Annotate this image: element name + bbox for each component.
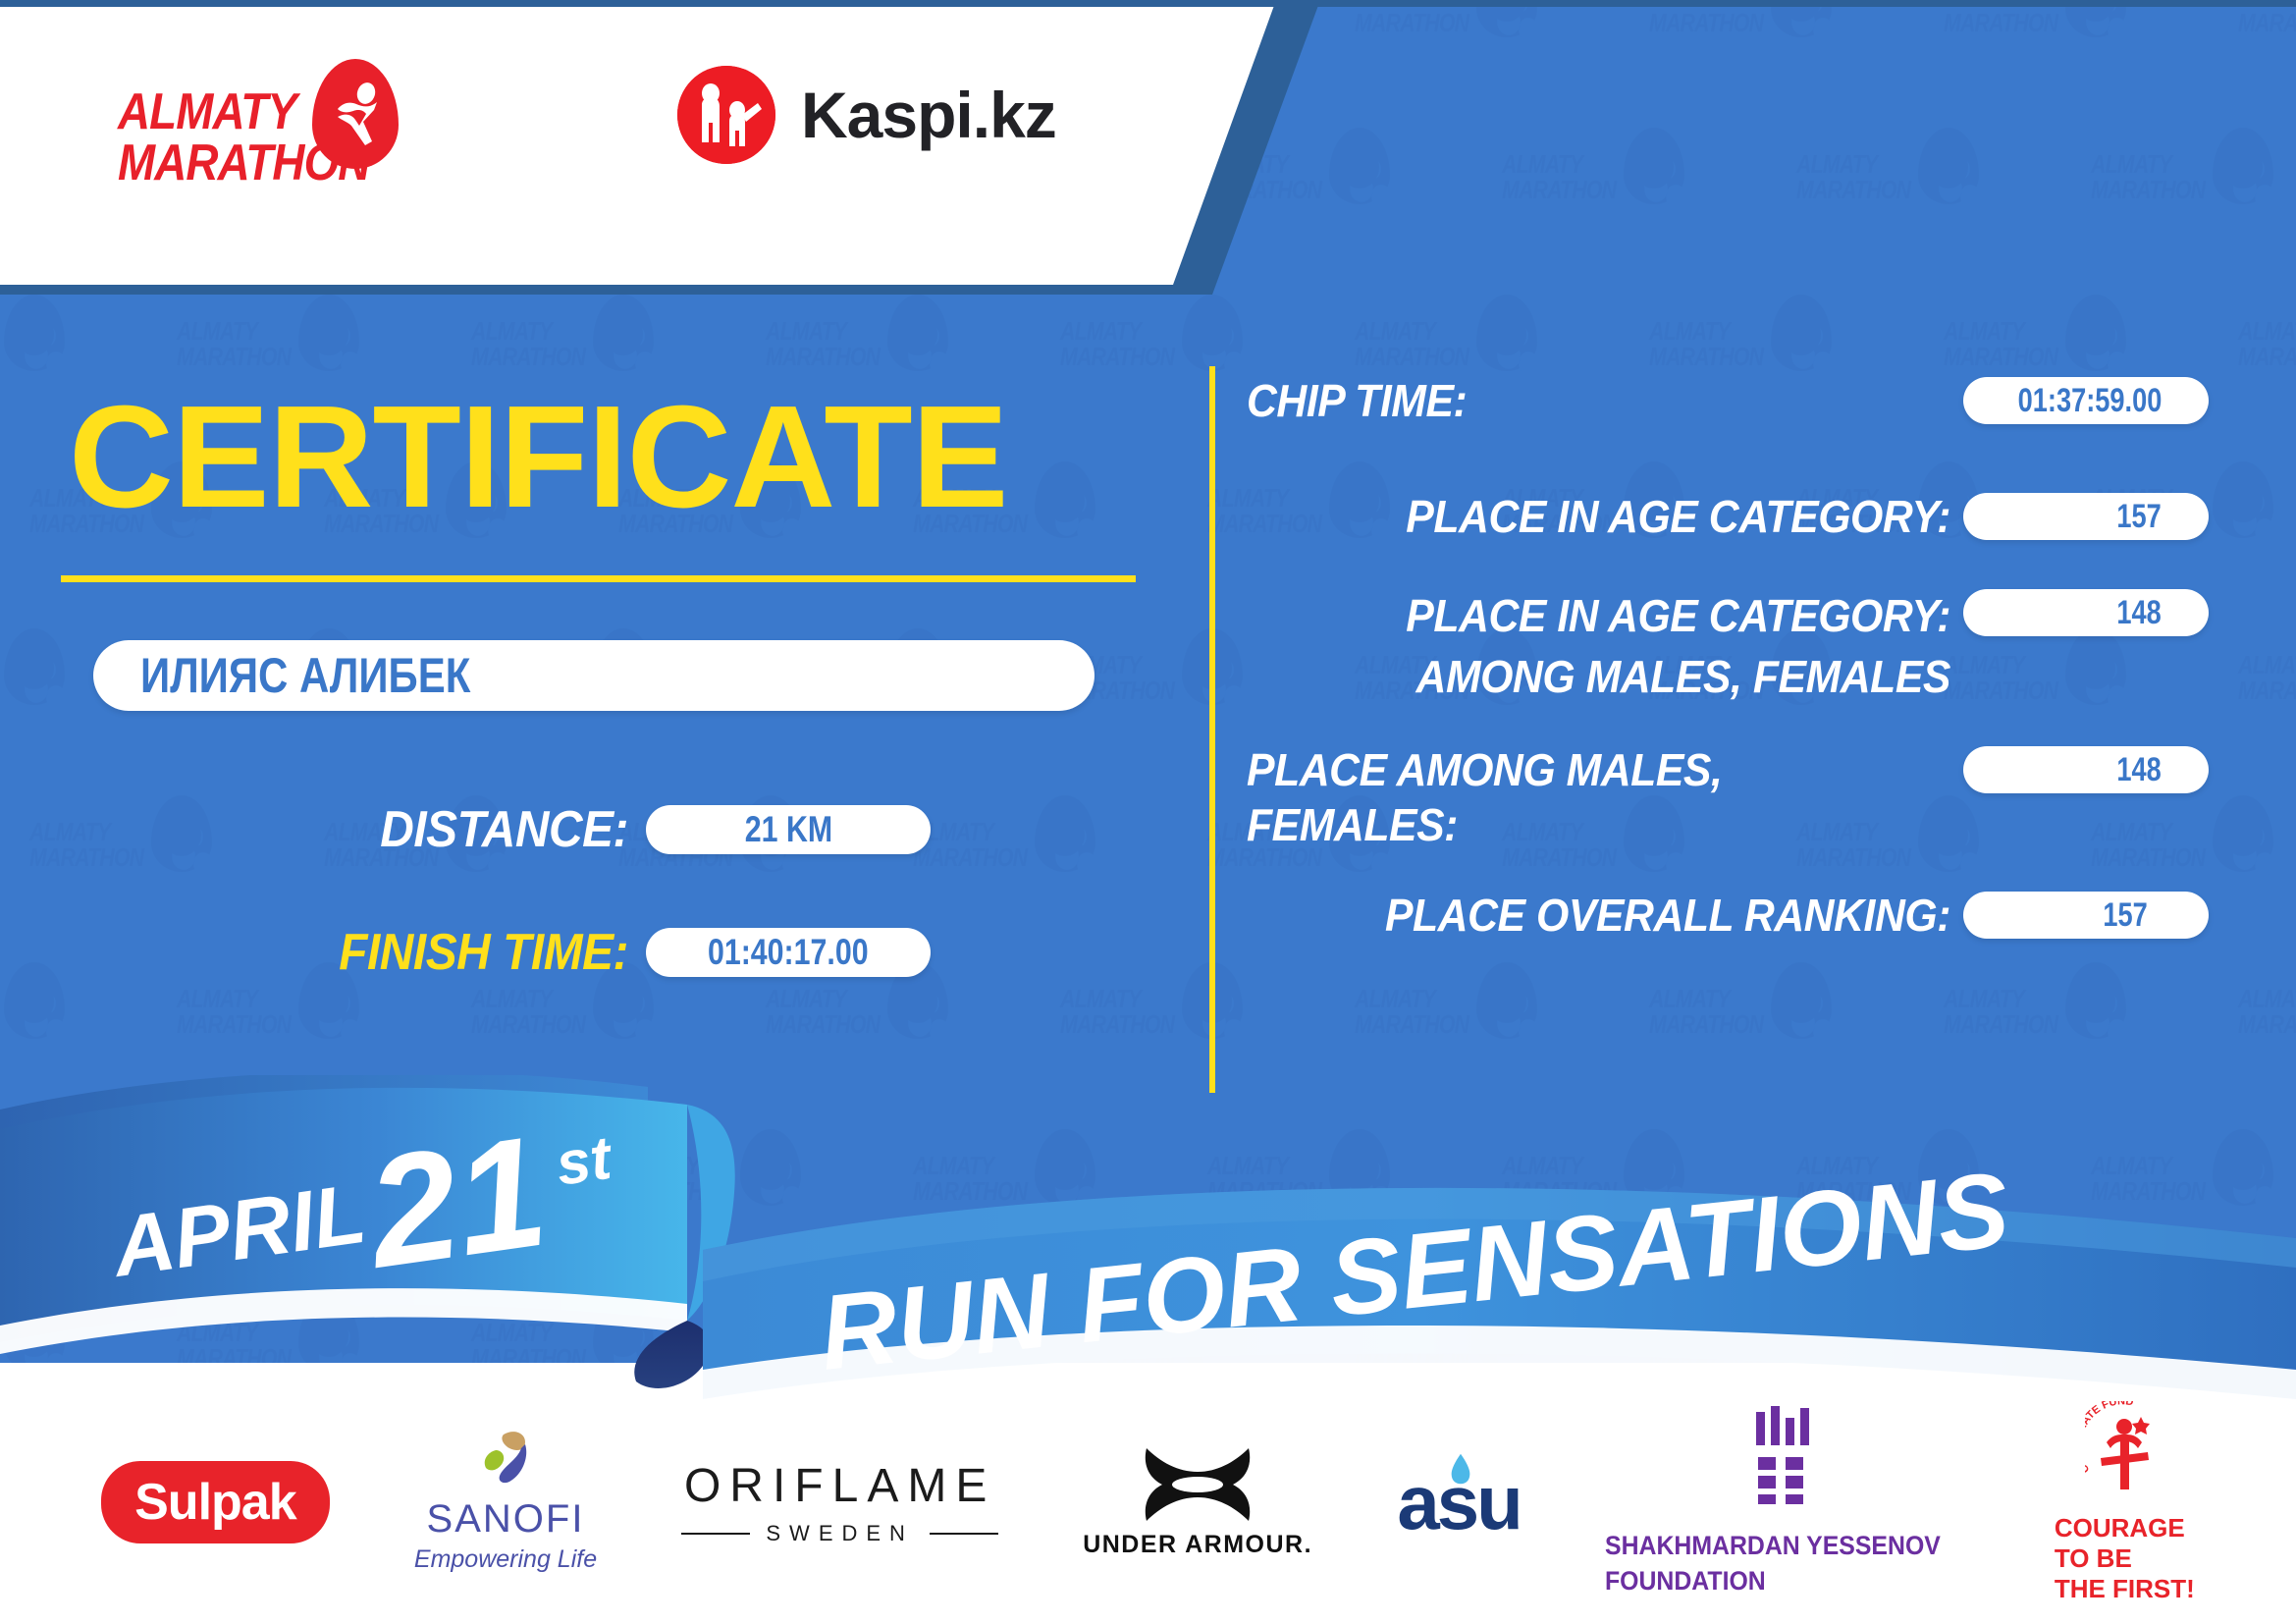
chip-time-value: 01:37:59.00 (2017, 382, 2162, 420)
watermark-text: ALMATYMARATHON (1060, 318, 1174, 369)
watermark-drop-icon (2213, 461, 2273, 538)
sponsor-logos: Sulpak SANOFI Empowering Life ORIFLAME S… (0, 1414, 2296, 1591)
yessenov-icon (1752, 1406, 1823, 1504)
watermark-text: ALMATYMARATHON (2238, 986, 2296, 1037)
kaspi-logo: Kaspi.kz (677, 61, 1056, 169)
sponsor-yessenov: SHAKHMARDAN YESSENOV FOUNDATION (1605, 1406, 1970, 1598)
sponsor-under-armour: UNDER ARMOUR. (1083, 1446, 1312, 1559)
watermark-tile: ALMATYMARATHON (1355, 0, 1541, 63)
place-among-males-females-value-pill: 148 (1963, 746, 2209, 793)
watermark-text: ALMATYMARATHON (1649, 986, 1763, 1037)
watermark-tile: ALMATYMARATHON (1060, 962, 1247, 1064)
watermark-drop-icon (2213, 128, 2273, 204)
athlete-name-value: ИЛИЯС АЛИБЕК (140, 647, 470, 704)
place-in-age-category-value-pill: 157 (1963, 493, 2209, 540)
watermark-text: ALMATYMARATHON (2238, 318, 2296, 369)
sponsor-oriflame: ORIFLAME SWEDEN (681, 1459, 998, 1546)
watermark-text: ALMATYMARATHON (766, 318, 880, 369)
watermark-tile: ALMATYMARATHON (2238, 962, 2296, 1064)
sanofi-wordmark: SANOFI (427, 1497, 585, 1542)
watermark-drop-icon (1035, 461, 1095, 538)
chip-time-row: CHIP TIME: 01:37:59.00 (1247, 373, 2209, 434)
place-in-age-category-value: 157 (2117, 498, 2162, 536)
ribbon-day: 21 (355, 1103, 556, 1301)
place-overall-ranking-row: PLACE OVERALL RANKING: 157 (1247, 888, 2209, 948)
watermark-tile: ALMATYMARATHON (2238, 295, 2296, 397)
distance-value: 21 KM (744, 809, 831, 850)
under-armour-icon (1139, 1446, 1256, 1523)
watermark-text: ALMATYMARATHON (29, 819, 143, 870)
courage-fund-line2: TO BE (2055, 1543, 2195, 1574)
place-in-age-category-among-row: PLACE IN AGE CATEGORY:AMONG MALES, FEMAL… (1247, 585, 2209, 707)
watermark-text: ALMATYMARATHON (1355, 986, 1468, 1037)
place-among-males-females-label: PLACE AMONG MALES,FEMALES: (1247, 742, 1913, 852)
watermark-tile: ALMATYMARATHON (0, 295, 69, 397)
watermark-drop-icon (298, 295, 359, 371)
watermark-drop-icon (2065, 295, 2126, 371)
place-in-age-category-among-value: 148 (2117, 594, 2162, 632)
watermark-text: ALMATYMARATHON (1944, 986, 2057, 1037)
watermark-drop-icon (1771, 295, 1832, 371)
under-armour-glyph (1139, 1446, 1256, 1523)
yessenov-wordmark: SHAKHMARDAN YESSENOV FOUNDATION (1605, 1528, 1970, 1598)
top-border-line (0, 0, 2296, 7)
watermark-tile: ALMATYMARATHON (1060, 295, 1247, 397)
place-in-age-category-among-label: PLACE IN AGE CATEGORY:AMONG MALES, FEMAL… (1297, 585, 1963, 707)
watermark-drop-icon (1329, 128, 1390, 204)
athlete-name-field: ИЛИЯС АЛИБЕК (93, 640, 1095, 711)
oriflame-wordmark: ORIFLAME (684, 1459, 995, 1513)
sponsor-courage-fund: CORPORATE FUND COURAGE TO BE THE FIRST! (2055, 1401, 2195, 1604)
ribbon-graphic: APRIL 21 st RUN FOR SENSATIONS (0, 1075, 2296, 1399)
watermark-drop-icon (1476, 295, 1537, 371)
watermark-drop-icon (593, 295, 654, 371)
event-ribbon: APRIL 21 st RUN FOR SENSATIONS (0, 1075, 2296, 1399)
page-title: CERTIFICATE (69, 385, 1007, 530)
watermark-drop-icon (151, 795, 212, 872)
chip-time-value-pill: 01:37:59.00 (1963, 377, 2209, 424)
watermark-tile: ALMATYMARATHON (913, 795, 1099, 897)
watermark-text: ALMATYMARATHON (2091, 151, 2205, 202)
watermark-text: ALMATYMARATHON (1796, 151, 1910, 202)
distance-value-pill: 21 KM (646, 805, 931, 854)
kaspi-people-glyph (677, 66, 775, 164)
watermark-tile: ALMATYMARATHON (1502, 128, 1688, 230)
title-underline (61, 575, 1136, 582)
place-among-males-females-value: 148 (2117, 751, 2162, 789)
finish-time-label: FINISH TIME: (222, 923, 628, 982)
sponsor-asu: asu (1397, 1458, 1520, 1547)
watermark-drop-icon (4, 295, 65, 371)
asu-droplet-icon (1448, 1452, 1473, 1486)
almaty-marathon-logo: ALMATY MARATHON (118, 59, 442, 196)
sanofi-icon (474, 1431, 537, 1491)
finish-time-value: 01:40:17.00 (708, 932, 869, 973)
sulpak-logo: Sulpak (101, 1461, 330, 1543)
watermark-text: ALMATYMARATHON (177, 318, 291, 369)
watermark-text: ALMATYMARATHON (177, 986, 291, 1037)
watermark-drop-icon (4, 962, 65, 1039)
distance-row: DISTANCE: 21 KM (265, 800, 931, 859)
watermark-drop-icon (2213, 795, 2273, 872)
watermark-tile: ALMATYMARATHON (1944, 0, 2130, 63)
watermark-tile: ALMATYMARATHON (1649, 0, 1836, 63)
watermark-tile: ALMATYMARATHON (2238, 628, 2296, 731)
watermark-text: ALMATYMARATHON (1649, 318, 1763, 369)
watermark-drop-icon (1918, 128, 1979, 204)
place-in-age-category-label: PLACE IN AGE CATEGORY: (1297, 489, 1963, 544)
yessenov-glyph (1752, 1406, 1823, 1504)
kaspi-people-circle-icon (677, 66, 775, 164)
watermark-text: ALMATYMARATHON (766, 986, 880, 1037)
watermark-tile: ALMATYMARATHON (29, 795, 216, 897)
finish-time-row: FINISH TIME: 01:40:17.00 (187, 923, 931, 982)
courage-fund-line1: COURAGE (2055, 1513, 2195, 1543)
runner-glyph-icon (326, 81, 387, 153)
sanofi-glyph (474, 1431, 537, 1491)
watermark-tile: ALMATYMARATHON (0, 962, 69, 1064)
watermark-text: ALMATYMARATHON (2238, 652, 2296, 703)
oriflame-rule-left (681, 1533, 750, 1535)
watermark-tile: ALMATYMARATHON (0, 628, 69, 731)
vertical-divider (1209, 366, 1215, 1093)
watermark-tile: ALMATYMARATHON (2238, 0, 2296, 63)
chip-time-label: CHIP TIME: (1247, 373, 1913, 428)
watermark-tile: ALMATYMARATHON (2091, 128, 2277, 230)
watermark-drop-icon (1035, 795, 1095, 872)
under-armour-wordmark: UNDER ARMOUR. (1083, 1531, 1312, 1559)
watermark-drop-icon (1182, 295, 1243, 371)
kaspi-wordmark: Kaspi.kz (801, 78, 1056, 152)
oriflame-tagline: SWEDEN (766, 1521, 914, 1546)
asu-wordmark: asu (1397, 1458, 1520, 1547)
watermark-text: ALMATYMARATHON (1944, 318, 2057, 369)
sponsor-sanofi: SANOFI Empowering Life (414, 1431, 597, 1574)
place-among-males-females-row: PLACE AMONG MALES,FEMALES: 148 (1247, 742, 2209, 852)
place-in-age-category-row: PLACE IN AGE CATEGORY: 157 (1247, 489, 2209, 550)
almaty-marathon-line1: ALMATY (118, 83, 296, 140)
yessenov-line1: SHAKHMARDAN YESSENOV (1605, 1528, 1941, 1563)
oriflame-subline: SWEDEN (681, 1521, 998, 1546)
courage-fund-glyph: CORPORATE FUND (2085, 1401, 2163, 1499)
watermark-drop-icon (887, 295, 948, 371)
watermark-tile: ALMATYMARATHON (1796, 128, 1983, 230)
watermark-text: ALMATYMARATHON (471, 318, 585, 369)
place-overall-ranking-label: PLACE OVERALL RANKING: (1297, 888, 1963, 943)
place-overall-ranking-value-pill: 157 (1963, 892, 2209, 939)
watermark-text: ALMATYMARATHON (471, 986, 585, 1037)
yessenov-line2: FOUNDATION (1605, 1563, 1941, 1598)
place-overall-ranking-value: 157 (2104, 896, 2148, 935)
sanofi-tagline: Empowering Life (414, 1545, 597, 1574)
courage-fund-icon: CORPORATE FUND (2085, 1401, 2163, 1499)
stats-panel: CHIP TIME: 01:37:59.00 PLACE IN AGE CATE… (1247, 373, 2209, 984)
watermark-drop-icon (4, 628, 65, 705)
watermark-text: ALMATYMARATHON (1355, 318, 1468, 369)
watermark-text: ALMATYMARATHON (1502, 151, 1616, 202)
sulpak-wordmark: Sulpak (134, 1474, 296, 1531)
finish-time-value-pill: 01:40:17.00 (646, 928, 931, 977)
watermark-drop-icon (1624, 128, 1684, 204)
certificate-canvas: ALMATYMARATHONALMATYMARATHONALMATYMARATH… (0, 0, 2296, 1624)
running-person-drop-icon (312, 59, 399, 169)
courage-fund-wordmark: COURAGE TO BE THE FIRST! (2055, 1513, 2195, 1604)
watermark-text: ALMATYMARATHON (1060, 986, 1174, 1037)
oriflame-rule-right (930, 1533, 998, 1535)
place-in-age-category-among-value-pill: 148 (1963, 589, 2209, 636)
sponsor-sulpak: Sulpak (101, 1461, 330, 1543)
courage-fund-line3: THE FIRST! (2055, 1574, 2195, 1604)
distance-label: DISTANCE: (294, 800, 628, 859)
